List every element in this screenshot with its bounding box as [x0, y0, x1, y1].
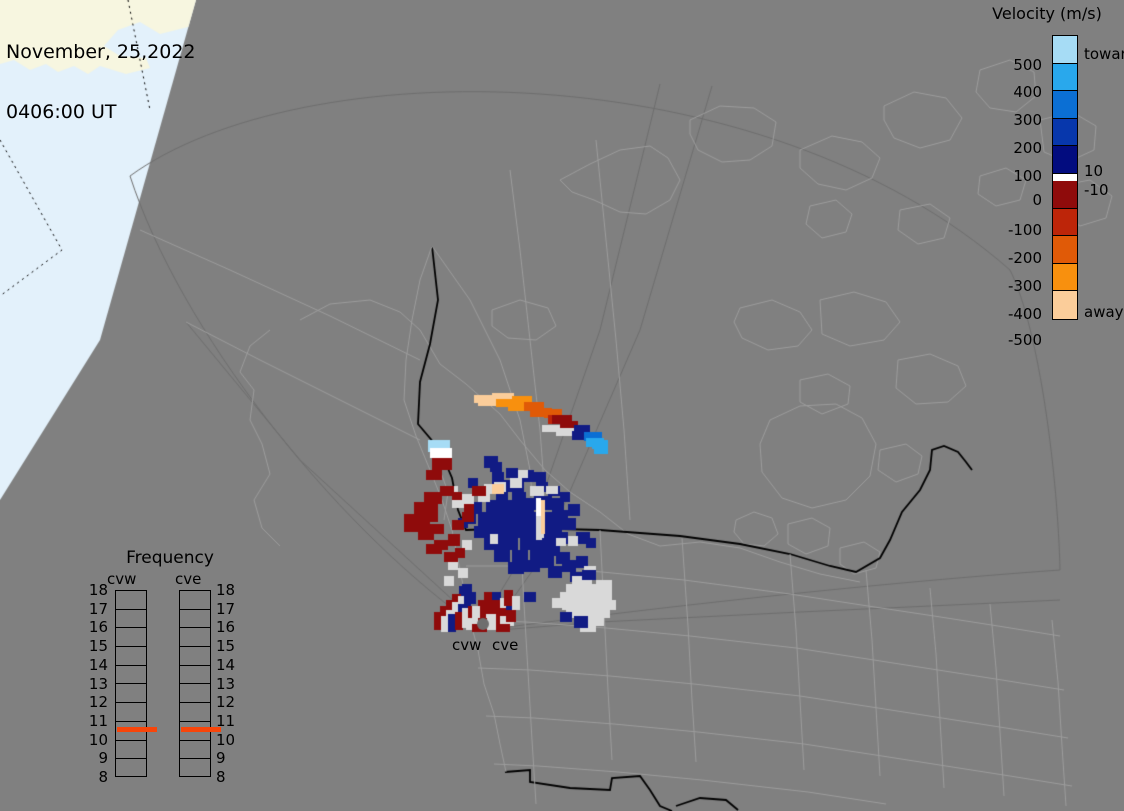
frequency-legend: Frequency cvw cve 18171615141312111098 1… [85, 545, 255, 795]
site-label-cve: cve [492, 636, 518, 654]
frequency-bar-segment [116, 666, 146, 685]
velocity-tick-label: 300 [1013, 111, 1042, 129]
frequency-bar-segment [116, 759, 146, 778]
frequency-tick-label: 16 [82, 618, 108, 636]
frequency-tick-label: 8 [82, 768, 108, 786]
frequency-bar-segment [116, 591, 146, 610]
frequency-tick-label: 12 [216, 693, 242, 711]
frequency-bar-segment [116, 741, 146, 760]
velocity-colorbar-cell [1053, 236, 1077, 264]
frequency-column-label-cvw: cvw [107, 570, 136, 588]
frequency-tick-label: 10 [82, 731, 108, 749]
frequency-bar-segment [180, 741, 210, 760]
frequency-tick-label: 15 [82, 637, 108, 655]
velocity-toward-label: toward [1084, 45, 1124, 63]
velocity-tick-label: -400 [1008, 305, 1042, 323]
frequency-bar-segment [180, 666, 210, 685]
frequency-tick-label: 13 [216, 675, 242, 693]
frequency-tick-label: 18 [82, 581, 108, 599]
frequency-tick-label: 14 [216, 656, 242, 674]
timestamp: November, 25,2022 0406:00 UT [6, 2, 196, 162]
frequency-marker-cve [181, 727, 221, 732]
velocity-colorbar-cell [1053, 209, 1077, 237]
frequency-legend-title: Frequency [85, 548, 255, 568]
frequency-tick-label: 12 [82, 693, 108, 711]
velocity-tick-label: 500 [1013, 56, 1042, 74]
velocity-tick-label: 200 [1013, 139, 1042, 157]
frequency-bar-segment [180, 684, 210, 703]
frequency-bar-segment [180, 610, 210, 629]
frequency-bar-segment [180, 647, 210, 666]
frequency-tick-label: 8 [216, 768, 242, 786]
frequency-tick-label: 17 [82, 600, 108, 618]
velocity-negative-threshold-label: -10 [1084, 181, 1109, 199]
frequency-tick-label: 10 [216, 731, 242, 749]
velocity-tick-label: -100 [1008, 221, 1042, 239]
frequency-tick-label: 9 [216, 749, 242, 767]
frequency-tick-label: 14 [82, 656, 108, 674]
frequency-column-label-cve: cve [175, 570, 201, 588]
velocity-colorbar-cell [1053, 64, 1077, 92]
velocity-colorbar-cell [1053, 119, 1077, 147]
frequency-tick-label: 9 [82, 749, 108, 767]
velocity-legend-title: Velocity (m/s) [974, 4, 1120, 23]
frequency-bar-segment [180, 703, 210, 722]
velocity-away-label: away [1084, 303, 1124, 321]
velocity-legend: Velocity (m/s) 5004003002001000-100-200-… [980, 0, 1124, 340]
frequency-tick-label: 16 [216, 618, 242, 636]
frequency-marker-cvw [117, 727, 157, 732]
velocity-colorbar[interactable] [1052, 35, 1078, 320]
velocity-colorbar-cell [1053, 181, 1077, 209]
frequency-tick-label: 18 [216, 581, 242, 599]
frequency-bar-segment [116, 628, 146, 647]
velocity-tick-label: 0 [1032, 191, 1042, 209]
velocity-colorbar-cell [1053, 146, 1077, 174]
frequency-tick-label: 11 [82, 712, 108, 730]
frequency-bar-segment [180, 591, 210, 610]
velocity-colorbar-cell [1053, 36, 1077, 64]
radar-map-window: November, 25,2022 0406:00 UT Velocity (m… [0, 0, 1124, 811]
velocity-colorbar-cell [1053, 291, 1077, 319]
frequency-bar-segment [116, 684, 146, 703]
velocity-colorbar-cell [1053, 91, 1077, 119]
frequency-tick-label: 17 [216, 600, 242, 618]
timestamp-date: November, 25,2022 [6, 42, 196, 62]
velocity-tick-label: -300 [1008, 277, 1042, 295]
timestamp-time: 0406:00 UT [6, 102, 196, 122]
velocity-tick-label: -200 [1008, 249, 1042, 267]
velocity-tick-label: 400 [1013, 83, 1042, 101]
site-label-cvw: cvw [452, 636, 481, 654]
velocity-positive-threshold-label: 10 [1084, 162, 1103, 180]
frequency-bar-segment [180, 628, 210, 647]
frequency-bar-segment [116, 703, 146, 722]
frequency-bar-segment [180, 759, 210, 778]
frequency-bar-segment [116, 647, 146, 666]
frequency-bar-cve[interactable] [179, 590, 211, 777]
frequency-bar-segment [116, 610, 146, 629]
velocity-tick-label: -500 [1008, 331, 1042, 349]
frequency-tick-label: 13 [82, 675, 108, 693]
frequency-bar-cvw[interactable] [115, 590, 147, 777]
frequency-tick-label: 15 [216, 637, 242, 655]
velocity-colorbar-cell [1053, 174, 1077, 181]
velocity-tick-label: 100 [1013, 167, 1042, 185]
velocity-colorbar-cell [1053, 264, 1077, 292]
